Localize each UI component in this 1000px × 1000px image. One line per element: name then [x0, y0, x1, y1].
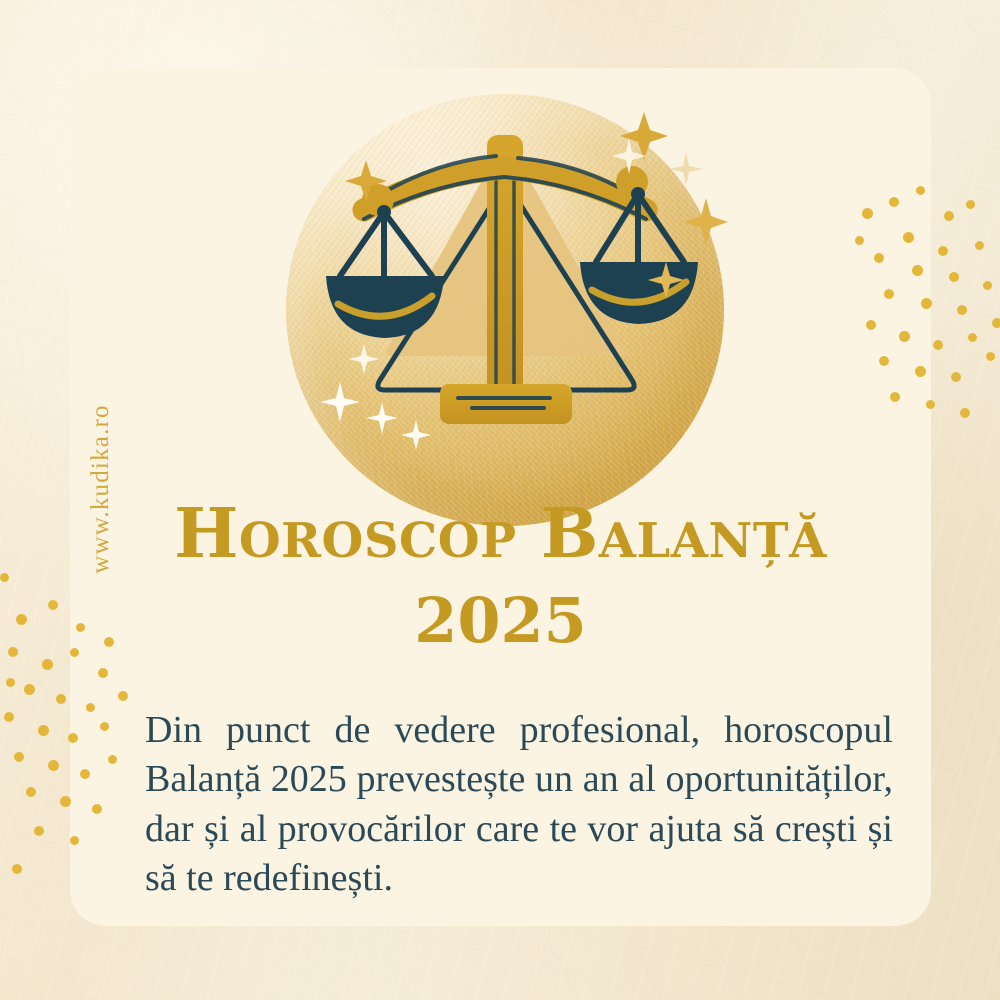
confetti-dot [48, 600, 58, 610]
confetti-dot [983, 281, 992, 290]
confetti-dot [960, 408, 970, 418]
confetti-dot [975, 241, 984, 250]
confetti-dot [949, 272, 959, 282]
confetti-dot [48, 760, 59, 771]
confetti-dot [957, 305, 967, 315]
confetti-dot [24, 684, 35, 695]
confetti-dot [42, 659, 53, 670]
site-url-watermark: www.kudika.ro [87, 379, 115, 599]
confetti-dot [968, 333, 977, 342]
sparkle-icon-3 [320, 382, 360, 422]
page-title-year: 2025 [70, 590, 931, 652]
confetti-dot [8, 647, 18, 657]
page-title: Horoscop Balanță [70, 500, 931, 568]
confetti-dot [933, 340, 943, 350]
confetti-dot [992, 318, 1000, 328]
confetti-dot [986, 352, 995, 361]
confetti-dot [56, 694, 66, 704]
libra-emblem [282, 90, 728, 530]
confetti-dot [4, 712, 14, 722]
body-paragraph: Din punct de vedere profesional, horosco… [145, 706, 893, 904]
confetti-dot [6, 678, 15, 687]
confetti-dot [16, 614, 27, 625]
confetti-dot [938, 246, 948, 256]
confetti-dot [26, 787, 36, 797]
star-icon-3 [684, 198, 728, 246]
confetti-dot [944, 211, 954, 221]
confetti-dot [951, 372, 961, 382]
sparkle-icon-1 [669, 152, 703, 186]
sparkle-icon-4 [366, 402, 398, 434]
poster-canvas: Horoscop Balanță 2025 Din punct de veder… [0, 0, 1000, 1000]
sparkle-icon-5 [401, 420, 431, 450]
confetti-dot [38, 725, 49, 736]
confetti-dot [0, 573, 9, 582]
confetti-dot [34, 826, 44, 836]
confetti-dot [12, 864, 22, 874]
confetti-dot [14, 752, 24, 762]
sparkle-icon-6 [349, 344, 379, 374]
confetti-dot [966, 200, 975, 209]
scale-base [440, 384, 572, 424]
libra-scales-icon [282, 90, 728, 530]
scale-strings-left [340, 212, 432, 280]
